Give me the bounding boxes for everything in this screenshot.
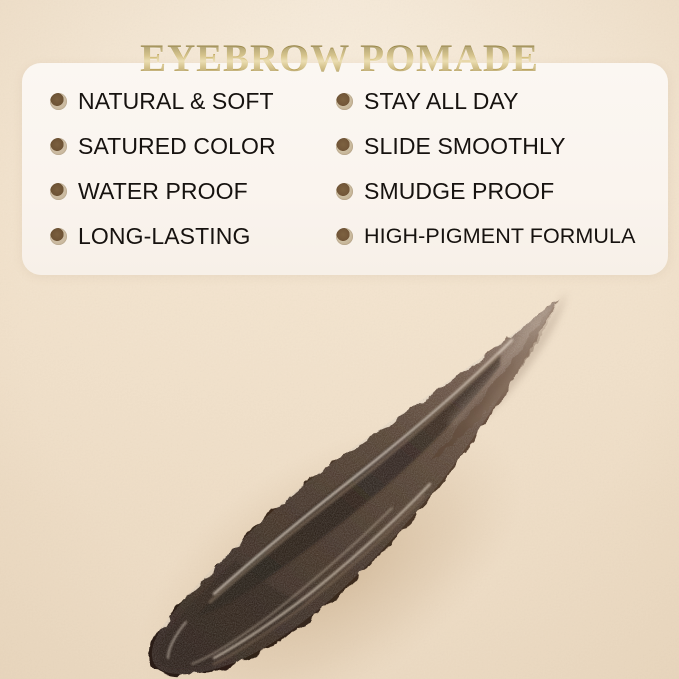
feature-label: HIGH-PIGMENT FORMULA <box>364 224 636 249</box>
eyebrow-pomade-swatch <box>0 270 679 679</box>
page-title-wrap: EYEBROW POMADE <box>0 12 679 106</box>
filled-circle-bullet-icon <box>50 183 67 200</box>
feature-item-high-pigment-formula: HIGH-PIGMENT FORMULA <box>336 214 654 259</box>
feature-label: SLIDE SMOOTHLY <box>364 133 566 160</box>
feature-item-water-proof: WATER PROOF <box>50 169 336 214</box>
filled-circle-bullet-icon <box>50 138 67 155</box>
filled-circle-bullet-icon <box>336 138 353 155</box>
feature-label: LONG-LASTING <box>78 223 250 250</box>
feature-label: SMUDGE PROOF <box>364 178 554 205</box>
page-title: EYEBROW POMADE <box>140 38 539 80</box>
filled-circle-bullet-icon <box>336 183 353 200</box>
feature-item-satured-color: SATURED COLOR <box>50 124 336 169</box>
feature-label: WATER PROOF <box>78 178 248 205</box>
filled-circle-bullet-icon <box>336 228 353 245</box>
feature-item-smudge-proof: SMUDGE PROOF <box>336 169 654 214</box>
product-marketing-image: EYEBROW POMADE NATURAL & SOFT STAY ALL D… <box>0 0 679 679</box>
feature-item-long-lasting: LONG-LASTING <box>50 214 336 259</box>
filled-circle-bullet-icon <box>50 228 67 245</box>
feature-item-slide-smoothly: SLIDE SMOOTHLY <box>336 124 654 169</box>
feature-label: SATURED COLOR <box>78 133 276 160</box>
